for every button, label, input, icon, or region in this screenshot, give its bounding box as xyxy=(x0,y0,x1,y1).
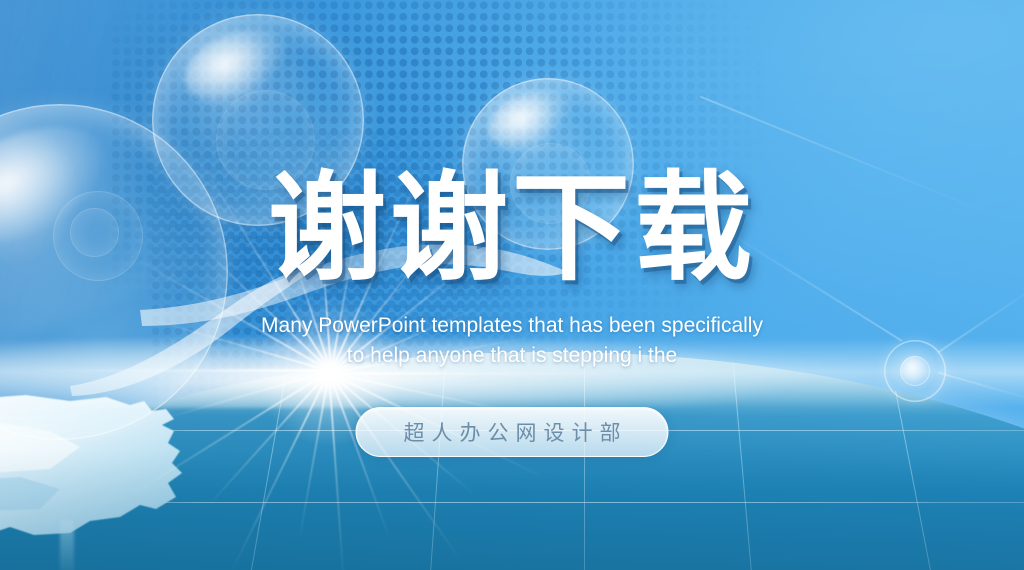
subtitle: Many PowerPoint templates that has been … xyxy=(232,311,792,372)
subtitle-line-2: to help anyone that is stepping i the xyxy=(232,341,792,371)
status-badge[interactable]: 超人办公网设计部 xyxy=(356,407,669,457)
atom-node-icon xyxy=(884,340,946,402)
page-title: 谢谢下载 xyxy=(0,166,1024,293)
landmass-reflection xyxy=(60,520,74,570)
subtitle-line-1: Many PowerPoint templates that has been … xyxy=(232,311,792,341)
presentation-slide: 谢谢下载 Many PowerPoint templates that has … xyxy=(0,0,1024,570)
